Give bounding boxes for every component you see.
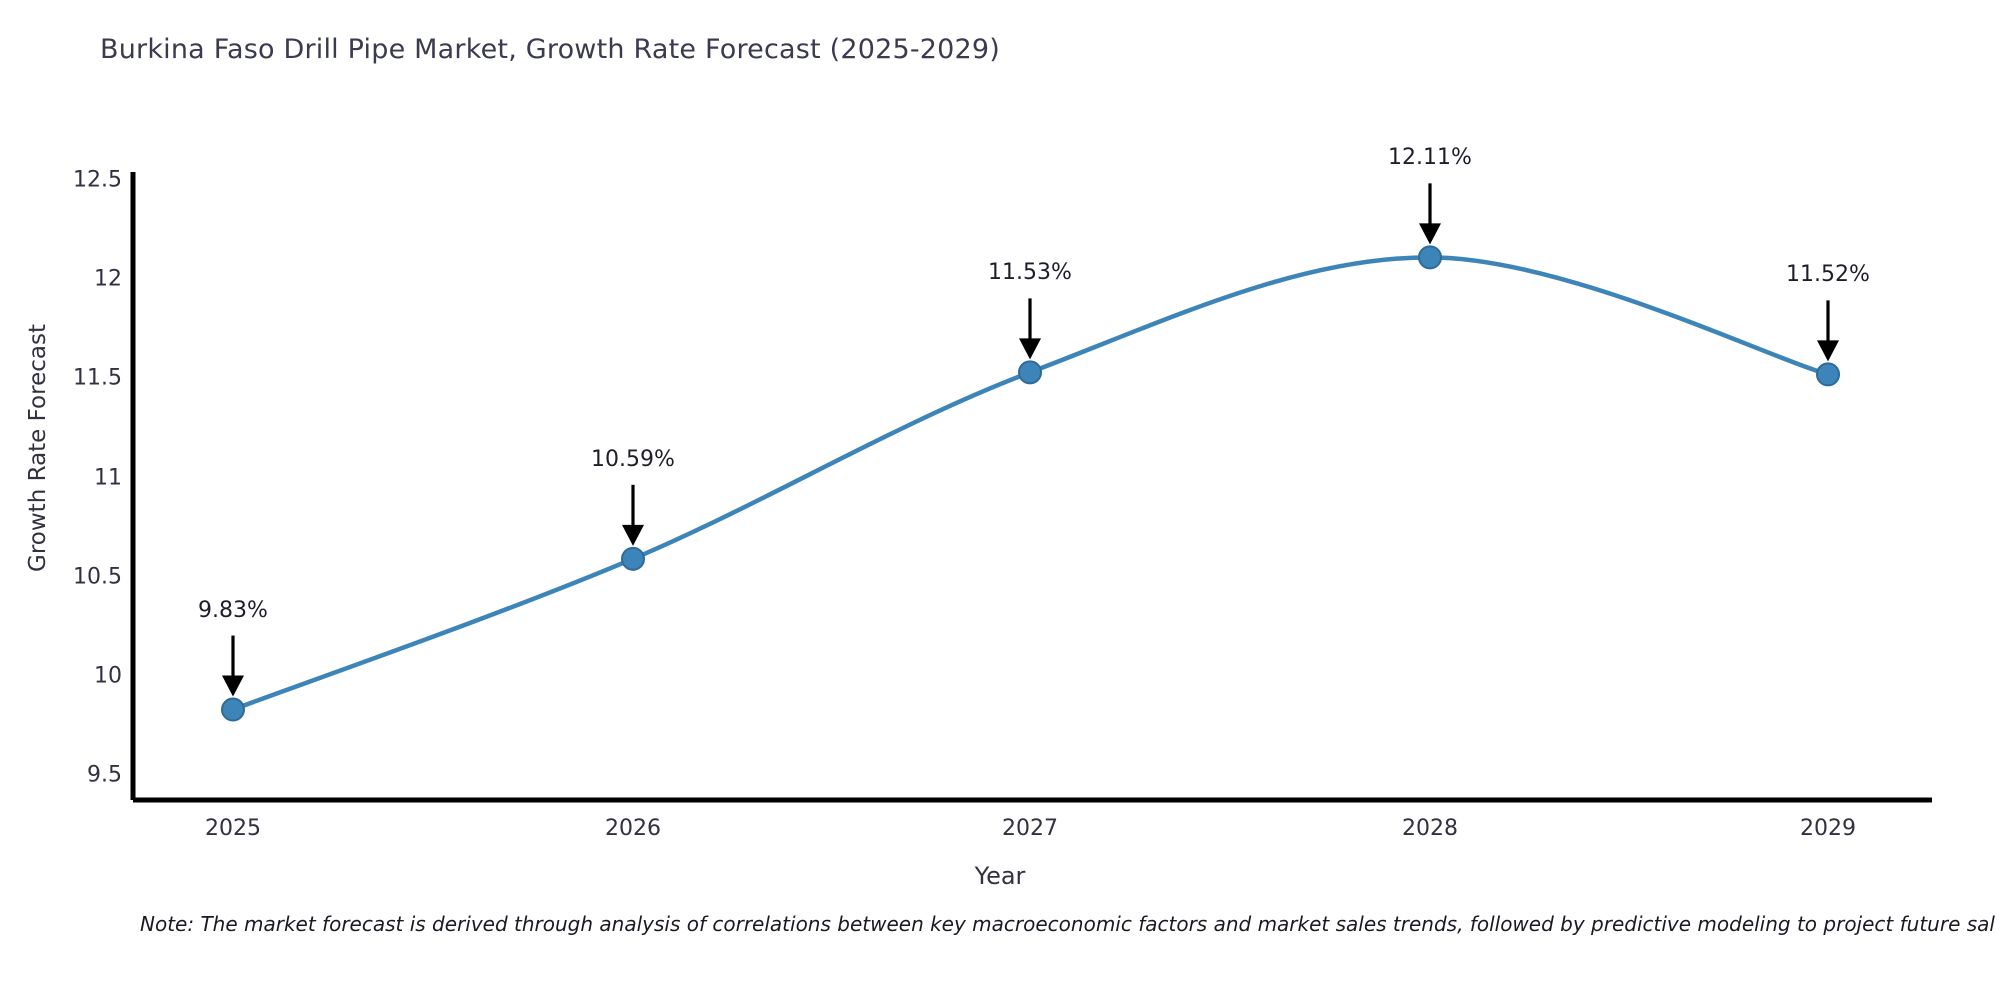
- x-tick-label: 2028: [1330, 816, 1530, 841]
- point-value-label: 10.59%: [591, 447, 675, 472]
- point-value-label: 12.11%: [1388, 145, 1472, 170]
- chart-note: Note: The market forecast is derived thr…: [140, 912, 1995, 936]
- y-tick-label: 11: [2, 465, 122, 490]
- plot-canvas: [0, 0, 2000, 1000]
- y-axis-title: Growth Rate Forecast: [25, 288, 51, 608]
- y-tick-label: 11.5: [2, 366, 122, 391]
- y-tick-label: 10.5: [2, 564, 122, 589]
- x-tick-label: 2026: [533, 816, 733, 841]
- x-tick-label: 2027: [930, 816, 1130, 841]
- y-tick-label: 9.5: [2, 763, 122, 788]
- y-tick-label: 12: [2, 267, 122, 292]
- y-tick-label: 12.5: [2, 168, 122, 193]
- point-value-label: 11.53%: [988, 260, 1072, 285]
- point-value-label: 9.83%: [198, 598, 268, 623]
- y-tick-label: 10: [2, 663, 122, 688]
- chart-container: Burkina Faso Drill Pipe Market, Growth R…: [0, 0, 2000, 1000]
- point-value-label: 11.52%: [1786, 262, 1870, 287]
- x-tick-label: 2029: [1728, 816, 1928, 841]
- x-tick-label: 2025: [133, 816, 333, 841]
- x-axis-title: Year: [0, 862, 2000, 890]
